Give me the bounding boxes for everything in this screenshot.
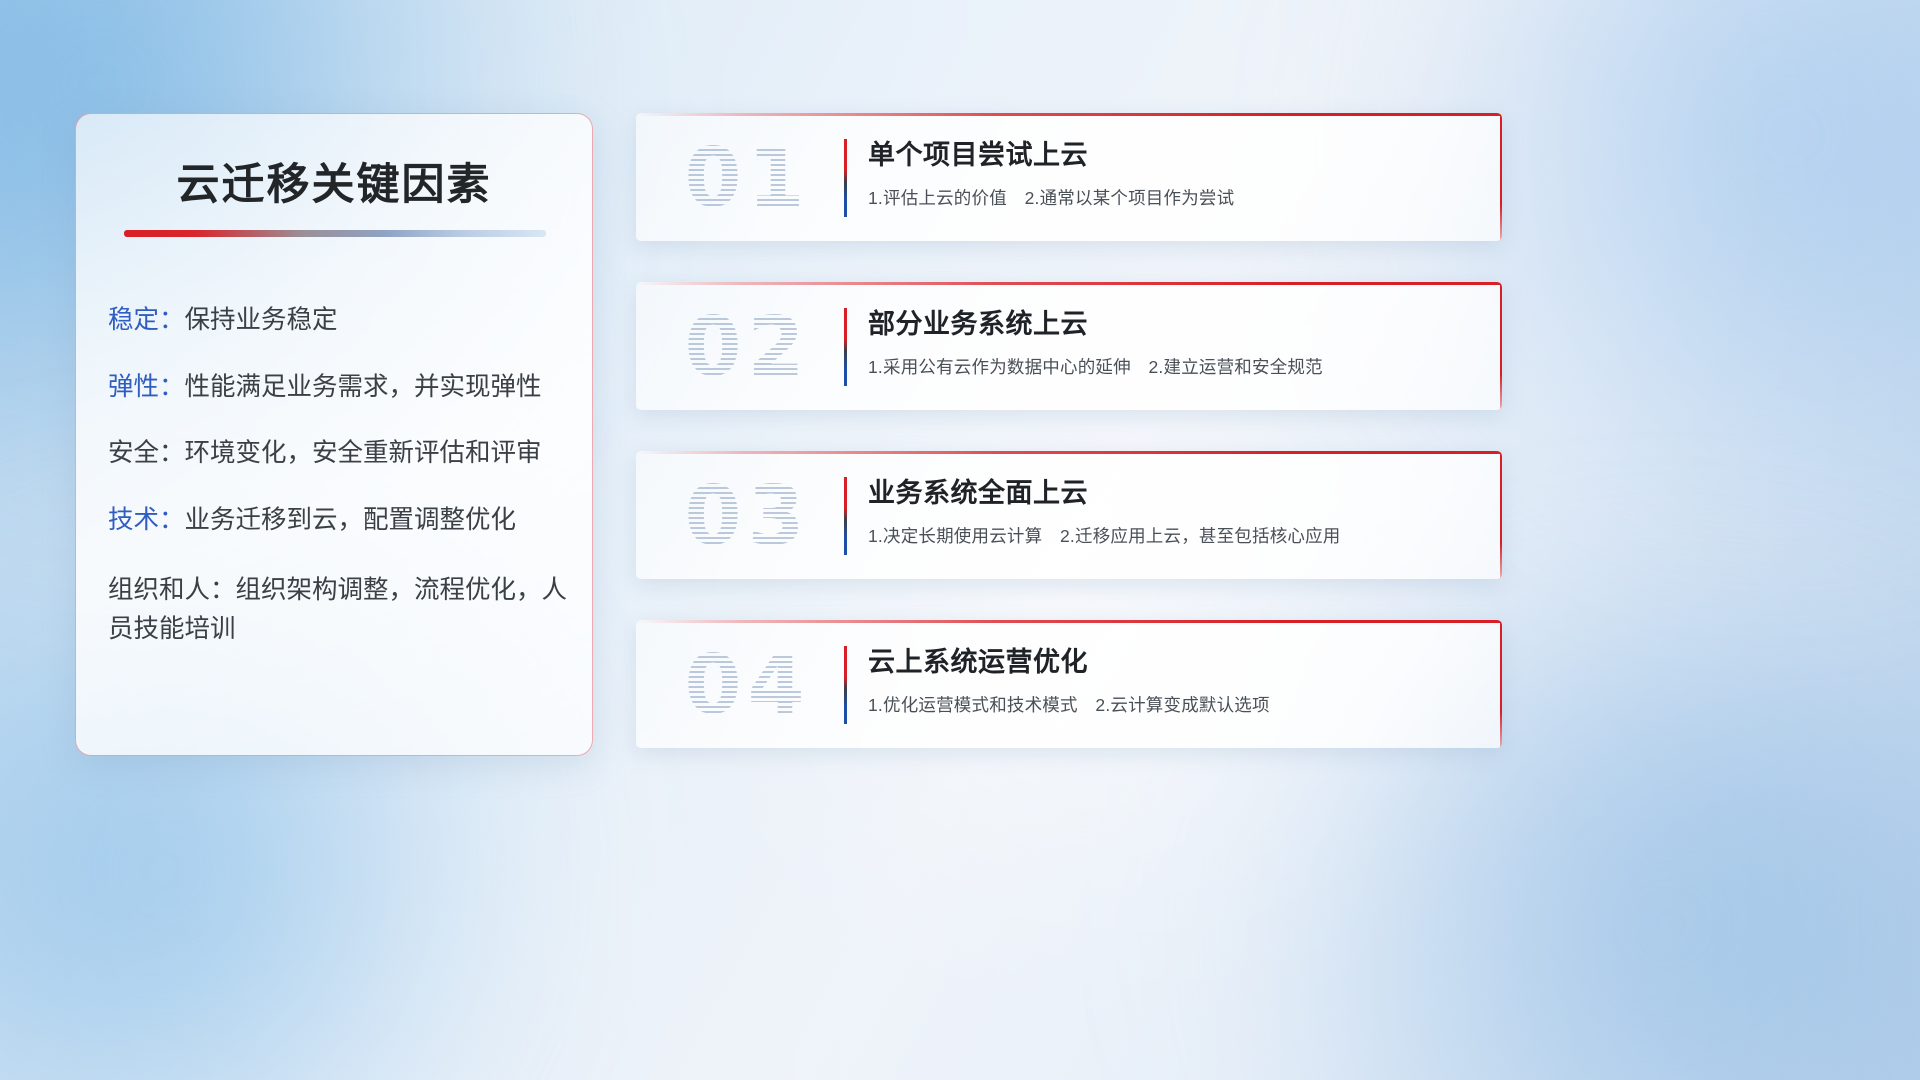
- list-item-label: 组织和人：: [108, 576, 236, 604]
- card-top-accent-line: [636, 113, 1502, 116]
- step-number: 03: [660, 457, 835, 575]
- step-number: 01: [660, 119, 835, 237]
- key-factors-panel: 云迁移关键因素 稳定：保持业务稳定 弹性：性能满足业务需求，并实现弹性 安全：环…: [75, 113, 593, 756]
- list-item: 安全：环境变化，安全重新评估和评审: [108, 437, 570, 470]
- card-body: 业务系统全面上云 1.决定长期使用云计算 2.迁移应用上云，甚至包括核心应用: [868, 471, 1472, 548]
- step-card[interactable]: 04 云上系统运营优化 1.优化运营模式和技术模式 2.云计算变成默认选项: [636, 620, 1502, 748]
- list-item: 弹性：性能满足业务需求，并实现弹性: [108, 371, 570, 404]
- step-card[interactable]: 01 单个项目尝试上云 1.评估上云的价值 2.通常以某个项目作为尝试: [636, 113, 1502, 241]
- card-top-accent-line: [636, 451, 1502, 454]
- step-title: 单个项目尝试上云: [868, 133, 1472, 172]
- list-item-label: 技术：: [108, 506, 185, 534]
- step-number: 04: [660, 626, 835, 744]
- card-right-accent-line: [1500, 282, 1503, 410]
- step-title: 云上系统运营优化: [868, 640, 1472, 679]
- card-right-accent-line: [1500, 113, 1503, 241]
- key-factors-list: 稳定：保持业务稳定 弹性：性能满足业务需求，并实现弹性 安全：环境变化，安全重新…: [108, 304, 570, 684]
- list-item-text: 环境变化，安全重新评估和评审: [185, 439, 542, 467]
- step-card[interactable]: 02 部分业务系统上云 1.采用公有云作为数据中心的延伸 2.建立运营和安全规范: [636, 282, 1502, 410]
- card-right-accent-line: [1500, 620, 1503, 748]
- list-item-label: 安全：: [108, 439, 185, 467]
- list-item: 稳定：保持业务稳定: [108, 304, 570, 337]
- title-underline-rule: [124, 230, 546, 237]
- step-description: 1.采用公有云作为数据中心的延伸 2.建立运营和安全规范: [868, 354, 1472, 379]
- list-item: 组织和人：组织架构调整，流程优化，人员技能培训: [108, 571, 570, 650]
- slide-canvas: 云迁移关键因素 稳定：保持业务稳定 弹性：性能满足业务需求，并实现弹性 安全：环…: [0, 0, 1920, 1080]
- card-divider-line: [844, 139, 847, 217]
- card-divider-line: [844, 477, 847, 555]
- list-item-label: 弹性：: [108, 373, 185, 401]
- migration-steps-list: 01 单个项目尝试上云 1.评估上云的价值 2.通常以某个项目作为尝试 02 部…: [636, 113, 1502, 789]
- card-top-accent-line: [636, 282, 1502, 285]
- list-item-text: 性能满足业务需求，并实现弹性: [185, 373, 542, 401]
- step-title: 部分业务系统上云: [868, 302, 1472, 341]
- step-description: 1.决定长期使用云计算 2.迁移应用上云，甚至包括核心应用: [868, 523, 1472, 548]
- card-body: 云上系统运营优化 1.优化运营模式和技术模式 2.云计算变成默认选项: [868, 640, 1472, 717]
- page-title: 云迁移关键因素: [76, 150, 592, 212]
- step-description: 1.评估上云的价值 2.通常以某个项目作为尝试: [868, 185, 1472, 210]
- list-item: 技术：业务迁移到云，配置调整优化: [108, 504, 570, 537]
- card-top-accent-line: [636, 620, 1502, 623]
- step-number: 02: [660, 288, 835, 406]
- list-item-text: 业务迁移到云，配置调整优化: [185, 506, 517, 534]
- card-right-accent-line: [1500, 451, 1503, 579]
- card-divider-line: [844, 646, 847, 724]
- card-divider-line: [844, 308, 847, 386]
- step-title: 业务系统全面上云: [868, 471, 1472, 510]
- list-item-text: 保持业务稳定: [185, 306, 338, 334]
- card-body: 部分业务系统上云 1.采用公有云作为数据中心的延伸 2.建立运营和安全规范: [868, 302, 1472, 379]
- step-description: 1.优化运营模式和技术模式 2.云计算变成默认选项: [868, 692, 1472, 717]
- card-body: 单个项目尝试上云 1.评估上云的价值 2.通常以某个项目作为尝试: [868, 133, 1472, 210]
- step-card[interactable]: 03 业务系统全面上云 1.决定长期使用云计算 2.迁移应用上云，甚至包括核心应…: [636, 451, 1502, 579]
- list-item-label: 稳定：: [108, 306, 185, 334]
